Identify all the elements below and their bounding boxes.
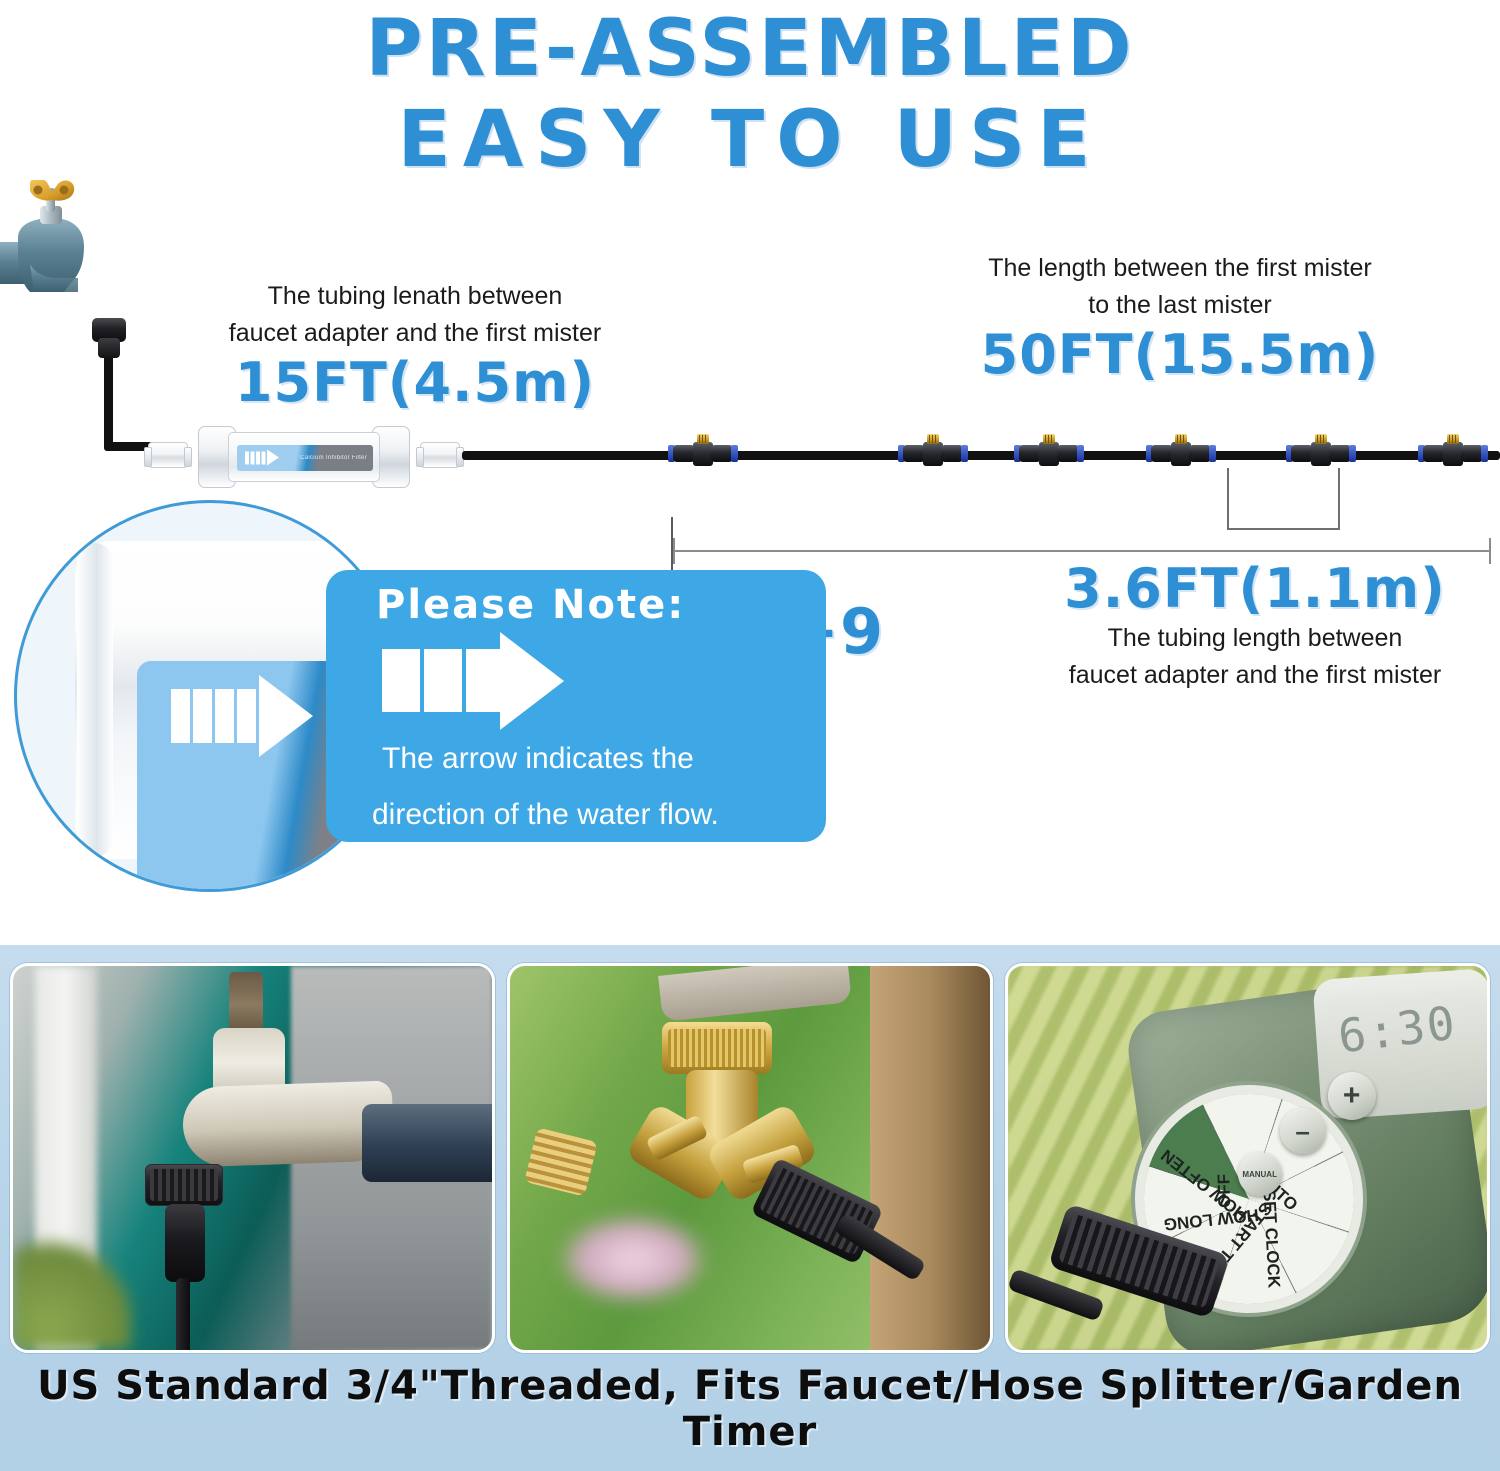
p3-plus-button[interactable]: + bbox=[1328, 1072, 1376, 1120]
magnified-filter-edge bbox=[77, 543, 113, 857]
p2-spigot bbox=[658, 963, 852, 1022]
tubing-segment-1 bbox=[462, 451, 687, 460]
annotation-15ft: The tubing lenath between faucet adapter… bbox=[150, 278, 680, 414]
annotation-50ft-line-1: The length between the first mister bbox=[860, 250, 1500, 287]
bottom-caption: US Standard 3/4"Threaded, Fits Faucet/Ho… bbox=[0, 1363, 1500, 1455]
mister-nozzle-1 bbox=[670, 434, 736, 468]
please-note-line-1: The arrow indicates the bbox=[382, 742, 694, 776]
headline: PRE-ASSEMBLED EASY TO USE bbox=[0, 0, 1500, 188]
p1-tubing bbox=[176, 1278, 190, 1353]
annotation-3-6ft: 3.6FT(1.1m) The tubing length between fa… bbox=[1010, 558, 1500, 694]
mister-nozzle-5 bbox=[1288, 434, 1354, 468]
p3-manual-button[interactable]: MANUAL bbox=[1238, 1152, 1282, 1196]
annotation-15ft-line-1: The tubing lenath between bbox=[150, 278, 680, 315]
panel-garden-timer-photo: 6:30 AUTO SET CLOCK START TIME HOW LONG … bbox=[1005, 963, 1490, 1353]
filter-label: Calcium Inhibitor Filter bbox=[237, 445, 373, 471]
panel-faucet-photo bbox=[10, 963, 495, 1353]
annotation-3-6ft-value: 3.6FT(1.1m) bbox=[1010, 558, 1500, 620]
dimension-bracket-3-6ft bbox=[1227, 468, 1340, 530]
mister-nozzle-6 bbox=[1420, 434, 1486, 468]
filter-body: Calcium Inhibitor Filter bbox=[228, 432, 380, 482]
annotation-50ft-value: 50FT(15.5m) bbox=[860, 324, 1500, 386]
annotation-15ft-value: 15FT(4.5m) bbox=[150, 352, 680, 414]
note-flow-arrow-icon bbox=[382, 632, 602, 730]
p1-adapter-body bbox=[165, 1204, 205, 1282]
please-note-callout: Please Note: The arrow indicates the dir… bbox=[326, 570, 826, 842]
annotation-50ft: The length between the first mister to t… bbox=[860, 250, 1500, 386]
mister-nozzle-2 bbox=[900, 434, 966, 468]
tubing-segment-2 bbox=[735, 451, 925, 460]
mister-nozzle-4 bbox=[1148, 434, 1214, 468]
p2-coupling-nut bbox=[662, 1022, 772, 1074]
photo-strip: 6:30 AUTO SET CLOCK START TIME HOW LONG … bbox=[0, 945, 1500, 1471]
calcium-inhibitor-filter: Calcium Inhibitor Filter bbox=[198, 426, 410, 488]
annotation-15ft-line-2: faucet adapter and the first mister bbox=[150, 315, 680, 352]
p1-hose bbox=[362, 1104, 492, 1182]
filter-label-text: Calcium Inhibitor Filter bbox=[300, 454, 367, 463]
p2-wooden-post bbox=[870, 966, 990, 1350]
faucet-adapter-body bbox=[98, 338, 120, 358]
magnified-flow-arrow-icon bbox=[171, 687, 321, 745]
water-flow-arrow-icon bbox=[245, 452, 279, 465]
p2-threaded-outlet bbox=[524, 1127, 598, 1196]
mister-nozzle-3 bbox=[1016, 434, 1082, 468]
p3-minus-button[interactable]: – bbox=[1280, 1108, 1326, 1154]
infographic-root: PRE-ASSEMBLED EASY TO USE bbox=[0, 0, 1500, 1471]
quick-connect-right bbox=[420, 442, 460, 468]
quick-connect-left bbox=[148, 442, 188, 468]
headline-line-1: PRE-ASSEMBLED bbox=[0, 0, 1500, 92]
annotation-3-6ft-line-1: The tubing length between bbox=[1010, 620, 1500, 657]
annotation-3-6ft-line-2: faucet adapter and the first mister bbox=[1010, 657, 1500, 694]
p1-adapter-nut bbox=[145, 1164, 223, 1206]
assembly-diagram: Calcium Inhibitor Filter bbox=[0, 170, 1500, 930]
please-note-line-2: direction of the water flow. bbox=[372, 798, 719, 832]
faucet-tubing-vertical bbox=[104, 350, 113, 450]
p1-grass bbox=[13, 1230, 133, 1350]
panel-hose-splitter-photo bbox=[507, 963, 992, 1353]
photo-panels: 6:30 AUTO SET CLOCK START TIME HOW LONG … bbox=[10, 963, 1490, 1353]
please-note-title: Please Note: bbox=[376, 582, 685, 628]
p3-dial-option-off: OFF bbox=[1214, 1174, 1235, 1209]
dimension-line-50ft bbox=[673, 550, 1491, 552]
annotation-50ft-line-2: to the last mister bbox=[860, 287, 1500, 324]
p3-lcd-value: 6:30 bbox=[1335, 995, 1459, 1063]
